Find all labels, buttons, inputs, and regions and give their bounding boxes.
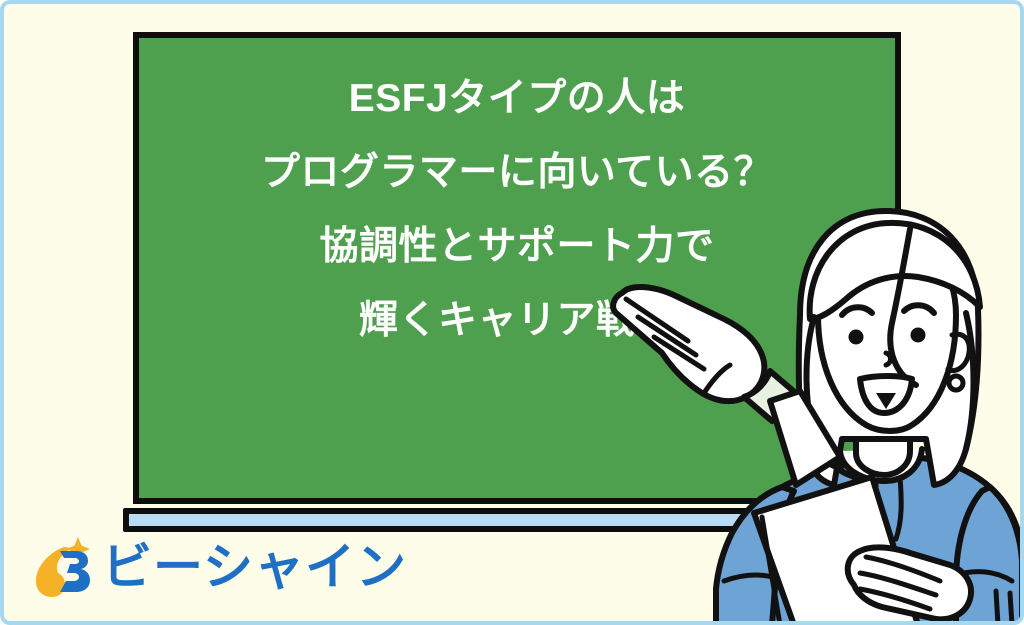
logo-letter-b (60, 551, 90, 592)
earring (949, 376, 963, 390)
sleeve-fold-right (996, 591, 998, 625)
woman-presenting-illustration (604, 195, 1024, 625)
eye-right (911, 328, 926, 343)
eye-left (849, 330, 864, 345)
banner-canvas: ESFJタイプの人は プログラマーに向いている？ 協調性とサポート力で 輝くキャ… (0, 0, 1024, 625)
sleeve-fold-right-2 (1010, 593, 1012, 625)
b-shine-star-mark-icon (34, 537, 92, 597)
brand-logo[interactable]: ビーシャイン (34, 535, 407, 599)
brand-logo-text: ビーシャイン (102, 542, 407, 592)
